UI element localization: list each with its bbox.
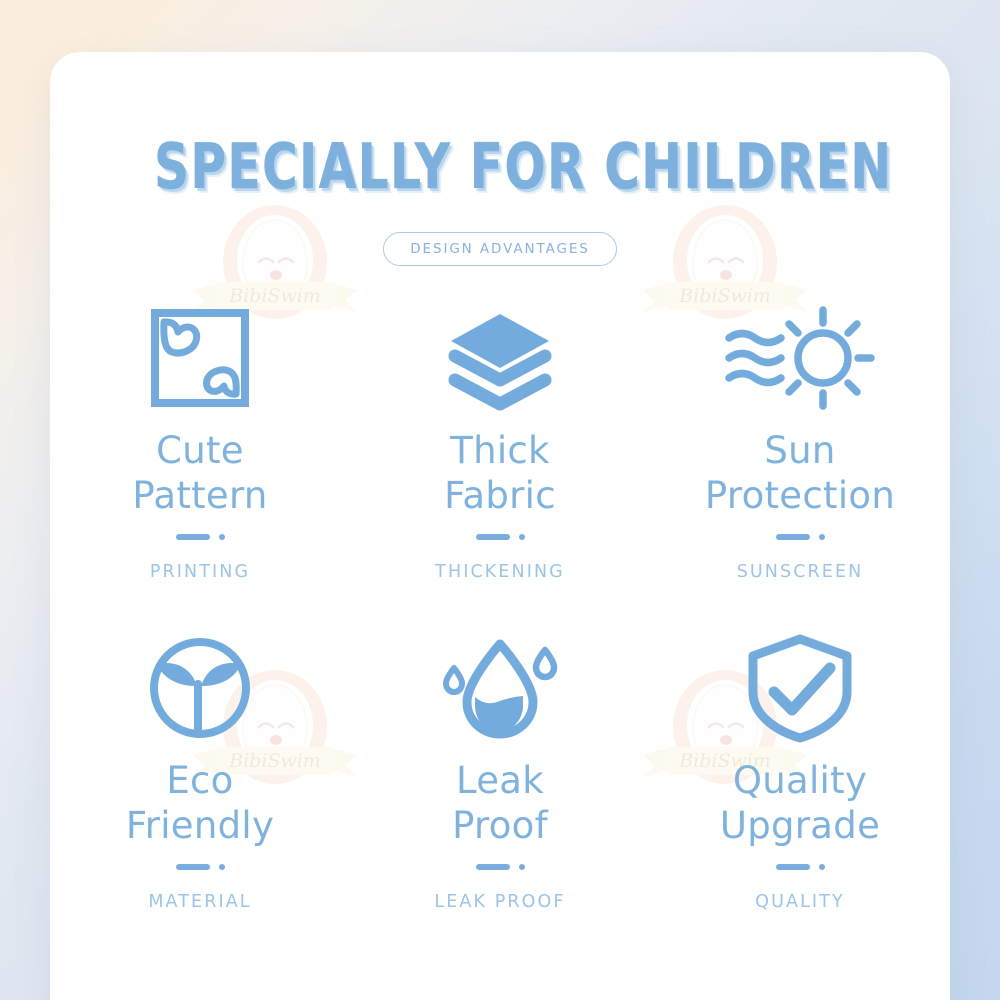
feature-caption: THICKENING — [435, 562, 565, 582]
divider-dot — [219, 864, 225, 870]
divider-dot — [819, 864, 825, 870]
badge-container: DESIGN ADVANTAGES — [50, 232, 950, 266]
divider-dash — [476, 864, 510, 870]
feature-cute-pattern: Cute Pattern PRINTING — [50, 292, 350, 622]
divider-dash — [776, 534, 810, 540]
poster-card: BibiSwim BibiSwim BibiSwim — [50, 52, 950, 1000]
title-divider — [476, 864, 525, 870]
feature-title: Quality Upgrade — [720, 758, 880, 848]
leak-proof-droplet-icon — [441, 632, 559, 744]
feature-caption: MATERIAL — [148, 892, 251, 912]
feature-caption: LEAK PROOF — [434, 892, 565, 912]
feature-eco-friendly: Eco Friendly MATERIAL — [50, 622, 350, 952]
thick-fabric-layers-icon — [445, 302, 555, 414]
title-divider — [776, 864, 825, 870]
divider-dot — [219, 534, 225, 540]
divider-dash — [476, 534, 510, 540]
quality-shield-check-icon — [746, 632, 854, 744]
feature-thick-fabric: Thick Fabric THICKENING — [350, 292, 650, 622]
feature-caption: QUALITY — [755, 892, 845, 912]
divider-dot — [519, 534, 525, 540]
design-advantages-badge: DESIGN ADVANTAGES — [383, 232, 616, 266]
feature-leak-proof: Leak Proof LEAK PROOF — [350, 622, 650, 952]
feature-quality-upgrade: Quality Upgrade QUALITY — [650, 622, 950, 952]
feature-title: Thick Fabric — [444, 428, 556, 518]
divider-dash — [176, 534, 210, 540]
eco-sprout-icon — [145, 632, 255, 744]
cute-pattern-icon — [150, 302, 250, 414]
feature-title: Eco Friendly — [126, 758, 274, 848]
page-title-container: SPECIALLY FOR CHILDREN — [50, 130, 950, 203]
divider-dot — [519, 864, 525, 870]
feature-title: Sun Protection — [705, 428, 895, 518]
title-divider — [476, 534, 525, 540]
feature-title: Leak Proof — [452, 758, 548, 848]
feature-sun-protection: Sun Protection SUNSCREEN — [650, 292, 950, 622]
title-divider — [176, 864, 225, 870]
feature-title: Cute Pattern — [132, 428, 267, 518]
sun-protection-icon — [725, 302, 875, 414]
page-title: SPECIALLY FOR CHILDREN — [154, 130, 892, 203]
divider-dash — [176, 864, 210, 870]
feature-grid: Cute Pattern PRINTING Thick Fabric TH — [50, 292, 950, 952]
divider-dash — [776, 864, 810, 870]
feature-caption: PRINTING — [150, 562, 250, 582]
title-divider — [176, 534, 225, 540]
divider-dot — [819, 534, 825, 540]
feature-caption: SUNSCREEN — [737, 562, 864, 582]
title-divider — [776, 534, 825, 540]
